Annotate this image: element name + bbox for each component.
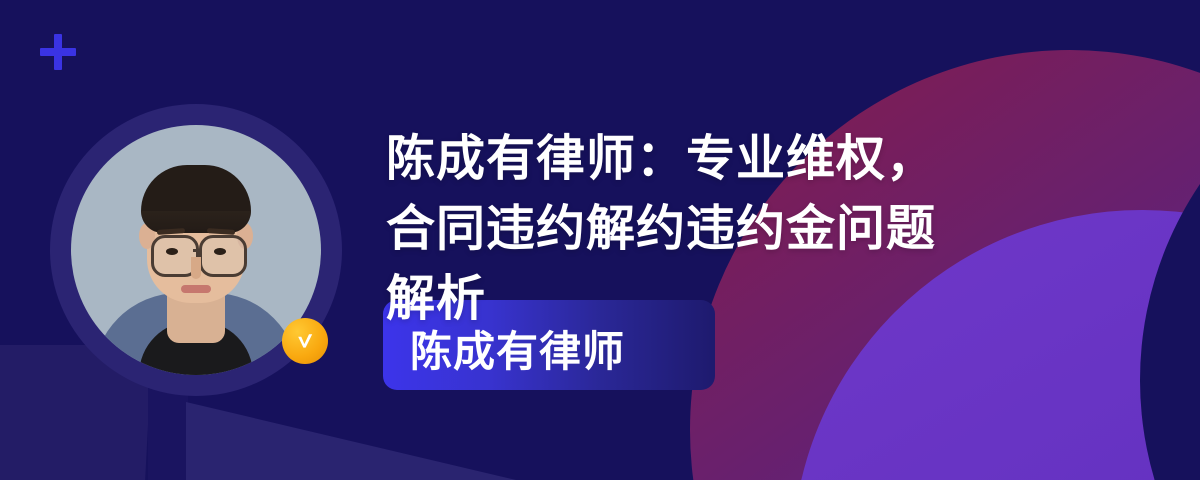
banner-card: 陈成有律师：专业维权， 合同违约解约违约金问题 解析 陈成有律师 [0, 0, 1200, 480]
verified-v-icon [282, 318, 328, 364]
page-title: 陈成有律师：专业维权， 合同违约解约违约金问题 解析 [386, 124, 1146, 334]
speaker-name-label: 陈成有律师 [410, 318, 625, 379]
avatar[interactable] [50, 104, 342, 396]
plus-icon [40, 34, 76, 70]
decorative-arc-mask [1140, 30, 1200, 480]
decorative-triangle-left [186, 402, 516, 480]
